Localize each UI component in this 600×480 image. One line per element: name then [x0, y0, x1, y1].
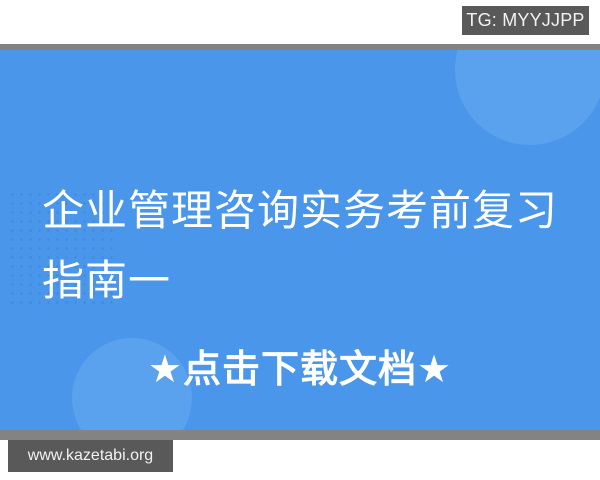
- site-url-chip: www.kazetabi.org: [8, 440, 173, 472]
- poster-headline: 企业管理咨询实务考前复习指南一: [42, 176, 572, 316]
- decorative-circle-top-right: [455, 50, 600, 145]
- download-document-cta[interactable]: ★点击下载文档★: [0, 348, 600, 392]
- screenshot-root: TG: MYYJJPP 企业管理咨询实务考前复习指南一 ★点击下载文档★ www…: [0, 0, 600, 480]
- poster-panel: 企业管理咨询实务考前复习指南一 ★点击下载文档★: [0, 50, 600, 430]
- telegram-watermark-badge: TG: MYYJJPP: [462, 6, 589, 35]
- bottom-divider: [0, 430, 600, 440]
